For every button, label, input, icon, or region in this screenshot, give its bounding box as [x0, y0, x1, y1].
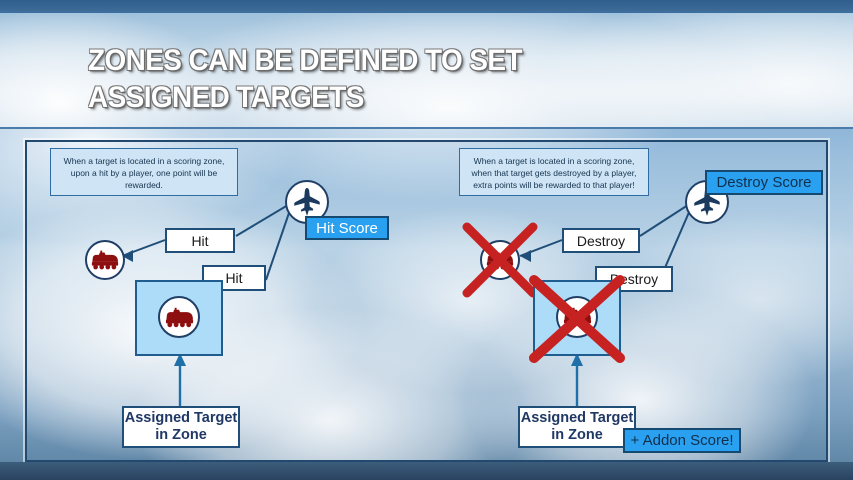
addon-score-badge[interactable]: + Addon Score! [623, 428, 741, 453]
bottom-edge-band [0, 462, 853, 480]
right-zone-label: Assigned Target in Zone [518, 406, 636, 448]
armored-vehicle-icon [562, 306, 593, 329]
left-info-box: When a target is located in a scoring zo… [50, 148, 238, 196]
right-info-box: When a target is located in a scoring zo… [459, 148, 649, 196]
hit-label-top: Hit [165, 228, 235, 253]
armored-vehicle-icon [164, 306, 195, 329]
left-free-target-token[interactable] [85, 240, 125, 280]
right-zone-target-token[interactable] [556, 296, 598, 338]
destroy-score-badge[interactable]: Destroy Score [705, 170, 823, 195]
left-zone-label: Assigned Target in Zone [122, 406, 240, 448]
right-free-target-token[interactable] [480, 240, 520, 280]
armored-vehicle-icon [485, 249, 515, 271]
slide-root: ZONES CAN BE DEFINED TO SET ASSIGNED TAR… [0, 0, 853, 480]
fighter-jet-icon [291, 186, 323, 218]
armored-vehicle-icon [90, 249, 120, 271]
hit-score-badge[interactable]: Hit Score [305, 216, 389, 240]
destroy-label-top: Destroy [562, 228, 640, 253]
header-band: ZONES CAN BE DEFINED TO SET ASSIGNED TAR… [0, 11, 853, 129]
left-zone-target-token[interactable] [158, 296, 200, 338]
page-title: ZONES CAN BE DEFINED TO SET ASSIGNED TAR… [88, 43, 739, 117]
